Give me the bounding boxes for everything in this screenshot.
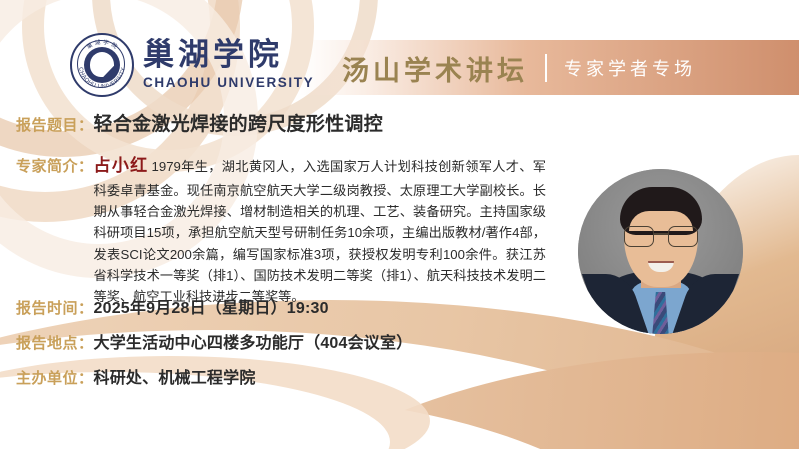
lecture-poster: 巢 湖 学 院 CHAOHU UNIVERSITY 巢湖学院 CHAOHU UN…: [0, 0, 799, 449]
banner-divider: [545, 54, 547, 82]
series-banner: 汤山学术讲坛 专家学者专场: [342, 48, 696, 88]
host-row: 主办单位： 科研处、机械工程学院: [16, 364, 256, 388]
seal-bottom-text: CHAOHU UNIVERSITY: [77, 67, 127, 90]
university-seal-icon: 巢 湖 学 院 CHAOHU UNIVERSITY: [70, 33, 134, 97]
expert-name: 占小红: [94, 156, 149, 175]
portrait-glasses-bridge: [653, 233, 669, 235]
report-place-label: 报告地点：: [16, 332, 94, 353]
expert-bio-row: 专家简介： 占小红1979年生，湖北黄冈人，入选国家万人计划科技创新领军人才、军…: [16, 152, 546, 308]
expert-bio-label: 专家简介：: [16, 155, 94, 176]
poster-header: 巢 湖 学 院 CHAOHU UNIVERSITY 巢湖学院 CHAOHU UN…: [0, 0, 799, 100]
university-name-en: CHAOHU UNIVERSITY: [143, 76, 314, 90]
report-place-value: 大学生活动中心四楼多功能厅（404会议室）: [94, 329, 413, 353]
report-time-row: 报告时间： 2025年9月28日（星期日）19:30: [16, 294, 329, 318]
report-place-row: 报告地点： 大学生活动中心四楼多功能厅（404会议室）: [16, 329, 412, 353]
expert-bio-text: 1979年生，湖北黄冈人，入选国家万人计划科技创新领军人才、军科委卓青基金。现任…: [94, 159, 546, 304]
portrait-glasses: [624, 226, 698, 246]
report-title-value: 轻合金激光焊接的跨尺度形性调控: [94, 109, 384, 136]
seal-ring-text: 巢 湖 学 院 CHAOHU UNIVERSITY: [72, 35, 132, 95]
university-name-block: 巢湖学院 CHAOHU UNIVERSITY: [143, 40, 314, 90]
speaker-portrait: [578, 169, 743, 334]
seal-top-text: 巢 湖 学 院: [85, 38, 119, 51]
portrait-lens-left: [624, 226, 654, 247]
expert-bio-body: 占小红1979年生，湖北黄冈人，入选国家万人计划科技创新领军人才、军科委卓青基金…: [94, 152, 546, 308]
host-label: 主办单位：: [16, 367, 94, 388]
university-logo: 巢 湖 学 院 CHAOHU UNIVERSITY 巢湖学院 CHAOHU UN…: [70, 33, 314, 97]
series-title: 汤山学术讲坛: [342, 49, 528, 88]
report-title-row: 报告题目： 轻合金激光焊接的跨尺度形性调控: [16, 109, 383, 136]
report-time-value: 2025年9月28日（星期日）19:30: [94, 294, 329, 318]
bottom-sweep-mask-2: [0, 392, 650, 449]
host-value: 科研处、机械工程学院: [94, 364, 256, 388]
bottom-sweep-2: [250, 352, 799, 449]
portrait-lens-right: [668, 226, 698, 247]
series-subtitle: 专家学者专场: [564, 55, 696, 81]
report-title-label: 报告题目：: [16, 114, 94, 135]
university-name-cn: 巢湖学院: [143, 40, 314, 71]
report-time-label: 报告时间：: [16, 297, 94, 318]
